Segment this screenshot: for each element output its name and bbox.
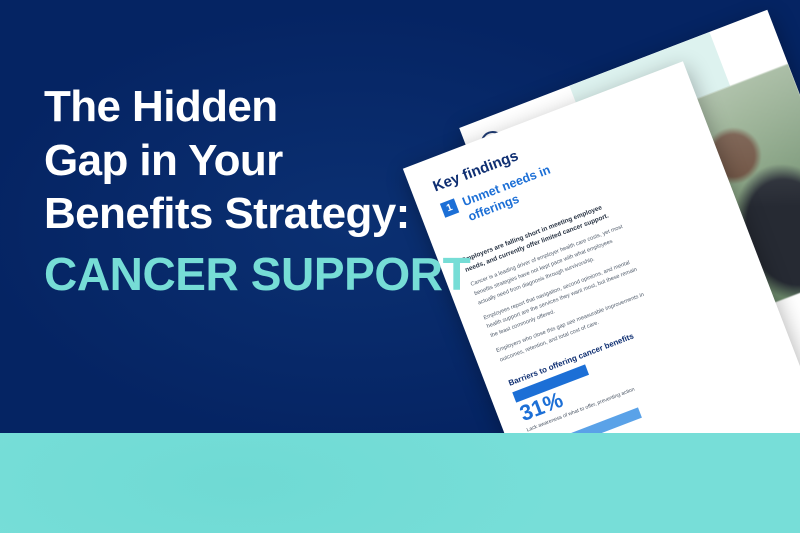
- teal-footer-band: [0, 433, 800, 533]
- hero-headline: The Hidden Gap in Your Benefits Strategy…: [44, 80, 514, 300]
- headline-line-1: The Hidden: [44, 80, 514, 134]
- headline-line-2: Gap in Your: [44, 134, 514, 188]
- headline-line-3: Benefits Strategy:: [44, 187, 514, 241]
- hero-subhead: CANCER SUPPORT: [44, 249, 514, 300]
- promo-banner: Memorial Sloan Kettering Cancer Center T…: [0, 0, 800, 533]
